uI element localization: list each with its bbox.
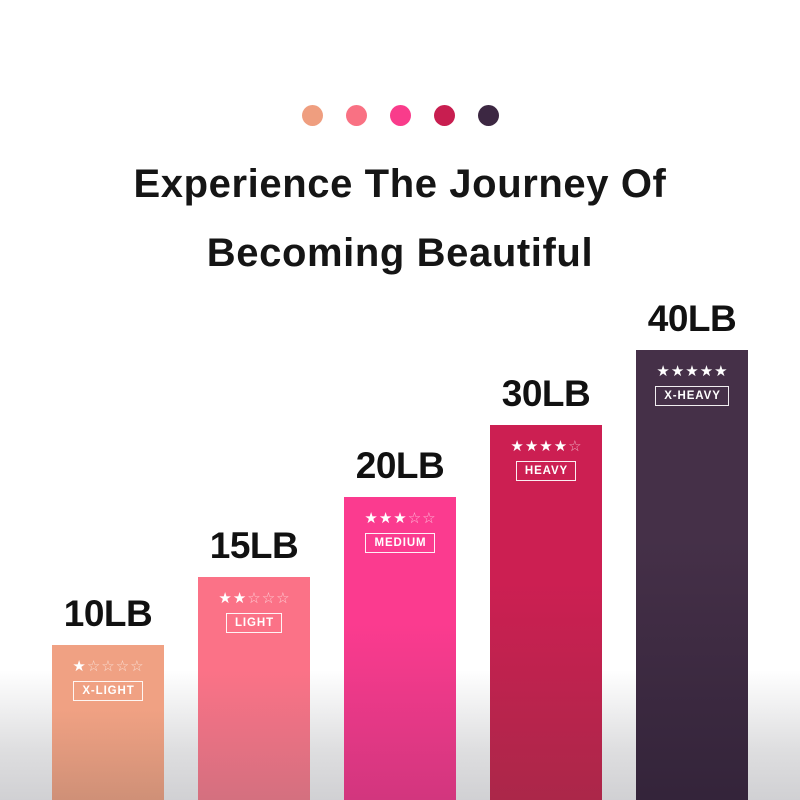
bar-badge-group: ★☆☆☆☆X-LIGHT: [52, 659, 164, 701]
color-swatch-row: [0, 105, 800, 126]
star-filled-icon: ★: [525, 439, 538, 454]
star-filled-icon: ★: [218, 591, 231, 606]
star-filled-icon: ★: [554, 439, 567, 454]
bar-30lb[interactable]: ★★★★☆HEAVY: [490, 425, 602, 800]
page-title: Experience The Journey Of Becoming Beaut…: [0, 150, 800, 288]
star-filled-icon: ★: [72, 659, 85, 674]
star-empty-icon: ☆: [101, 659, 114, 674]
star-filled-icon: ★: [685, 364, 698, 379]
star-filled-icon: ★: [700, 364, 713, 379]
chart-column-10lb[interactable]: 10LB★☆☆☆☆X-LIGHT: [52, 595, 164, 800]
bar-weight-label: 10LB: [64, 595, 152, 632]
rating-stars: ★★☆☆☆: [218, 591, 289, 606]
star-filled-icon: ★: [393, 511, 406, 526]
chart-column-40lb[interactable]: 40LB★★★★★X-HEAVY: [636, 300, 748, 800]
star-filled-icon: ★: [233, 591, 246, 606]
bar-20lb[interactable]: ★★★☆☆MEDIUM: [344, 497, 456, 800]
star-empty-icon: ☆: [422, 511, 435, 526]
star-empty-icon: ☆: [247, 591, 260, 606]
star-filled-icon: ★: [379, 511, 392, 526]
product-infographic: Experience The Journey Of Becoming Beaut…: [0, 0, 800, 800]
bar-15lb[interactable]: ★★☆☆☆LIGHT: [198, 577, 310, 800]
page-title-line-2: Becoming Beautiful: [0, 219, 800, 288]
star-filled-icon: ★: [714, 364, 727, 379]
rating-stars: ★★★★☆: [510, 439, 581, 454]
dot-x-heavy: [478, 105, 499, 126]
rating-stars: ★★★☆☆: [364, 511, 435, 526]
star-empty-icon: ☆: [276, 591, 289, 606]
star-empty-icon: ☆: [408, 511, 421, 526]
star-filled-icon: ★: [539, 439, 552, 454]
star-empty-icon: ☆: [568, 439, 581, 454]
star-empty-icon: ☆: [87, 659, 100, 674]
dot-medium: [390, 105, 411, 126]
bar-badge-group: ★★★☆☆MEDIUM: [344, 511, 456, 553]
chart-column-20lb[interactable]: 20LB★★★☆☆MEDIUM: [344, 447, 456, 800]
star-empty-icon: ☆: [116, 659, 129, 674]
bar-weight-label: 15LB: [210, 527, 298, 564]
star-filled-icon: ★: [364, 511, 377, 526]
bar-weight-label: 30LB: [502, 375, 590, 412]
dot-x-light: [302, 105, 323, 126]
tier-badge: X-HEAVY: [655, 386, 729, 406]
dot-light: [346, 105, 367, 126]
tier-badge: LIGHT: [226, 613, 282, 633]
chart-column-30lb[interactable]: 30LB★★★★☆HEAVY: [490, 375, 602, 800]
bar-badge-group: ★★★★★X-HEAVY: [636, 364, 748, 406]
star-filled-icon: ★: [671, 364, 684, 379]
dot-heavy: [434, 105, 455, 126]
bar-weight-label: 40LB: [648, 300, 736, 337]
bar-badge-group: ★★☆☆☆LIGHT: [198, 591, 310, 633]
rating-stars: ★★★★★: [656, 364, 727, 379]
star-empty-icon: ☆: [262, 591, 275, 606]
star-filled-icon: ★: [510, 439, 523, 454]
tier-badge: X-LIGHT: [73, 681, 142, 701]
bar-weight-label: 20LB: [356, 447, 444, 484]
star-filled-icon: ★: [656, 364, 669, 379]
star-empty-icon: ☆: [130, 659, 143, 674]
bar-10lb[interactable]: ★☆☆☆☆X-LIGHT: [52, 645, 164, 800]
tier-badge: HEAVY: [516, 461, 576, 481]
rating-stars: ★☆☆☆☆: [72, 659, 143, 674]
page-title-line-1: Experience The Journey Of: [0, 150, 800, 219]
chart-column-15lb[interactable]: 15LB★★☆☆☆LIGHT: [198, 527, 310, 800]
tier-badge: MEDIUM: [365, 533, 434, 553]
resistance-bar-chart: 10LB★☆☆☆☆X-LIGHT15LB★★☆☆☆LIGHT20LB★★★☆☆M…: [52, 280, 748, 800]
bar-badge-group: ★★★★☆HEAVY: [490, 439, 602, 481]
bar-40lb[interactable]: ★★★★★X-HEAVY: [636, 350, 748, 800]
